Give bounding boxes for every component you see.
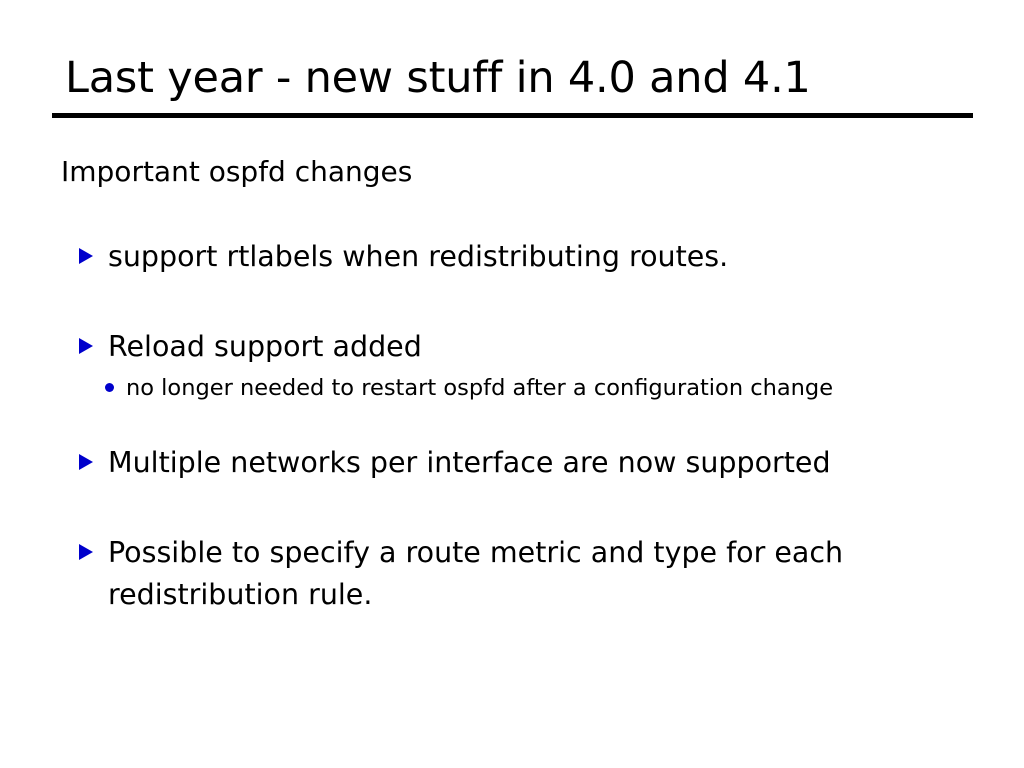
bullet-level1-item: Multiple networks per interface are now … <box>0 442 1024 484</box>
bullet-level1-item: Reload support added <box>0 326 1024 368</box>
bullet-text: support rtlabels when redistributing rou… <box>108 236 898 278</box>
body-heading: Important ospfd changes <box>0 152 1024 192</box>
dot-bullet-icon <box>105 383 114 392</box>
slide-title-block: Last year - new stuff in 4.0 and 4.1 <box>52 52 973 104</box>
page-title: Last year - new stuff in 4.0 and 4.1 <box>52 52 973 104</box>
bullet-text: Reload support added <box>108 326 898 368</box>
bullet-text: no longer needed to restart ospfd after … <box>126 368 849 408</box>
bullet-text: Possible to specify a route metric and t… <box>108 532 898 616</box>
bullet-level2-item: no longer needed to restart ospfd after … <box>0 368 1024 408</box>
title-divider-rule <box>52 113 973 118</box>
slide-body: Important ospfd changes support rtlabels… <box>0 152 1024 616</box>
spacer <box>0 192 1024 236</box>
spacer <box>0 484 1024 532</box>
triangle-bullet-icon <box>79 338 93 354</box>
triangle-bullet-icon <box>79 544 93 560</box>
bullet-text: Multiple networks per interface are now … <box>108 442 898 484</box>
slide-canvas: Last year - new stuff in 4.0 and 4.1 Imp… <box>0 0 1024 768</box>
spacer <box>0 278 1024 326</box>
triangle-bullet-icon <box>79 454 93 470</box>
spacer <box>0 408 1024 442</box>
bullet-level1-item: support rtlabels when redistributing rou… <box>0 236 1024 278</box>
bullet-level1-item: Possible to specify a route metric and t… <box>0 532 1024 616</box>
triangle-bullet-icon <box>79 248 93 264</box>
